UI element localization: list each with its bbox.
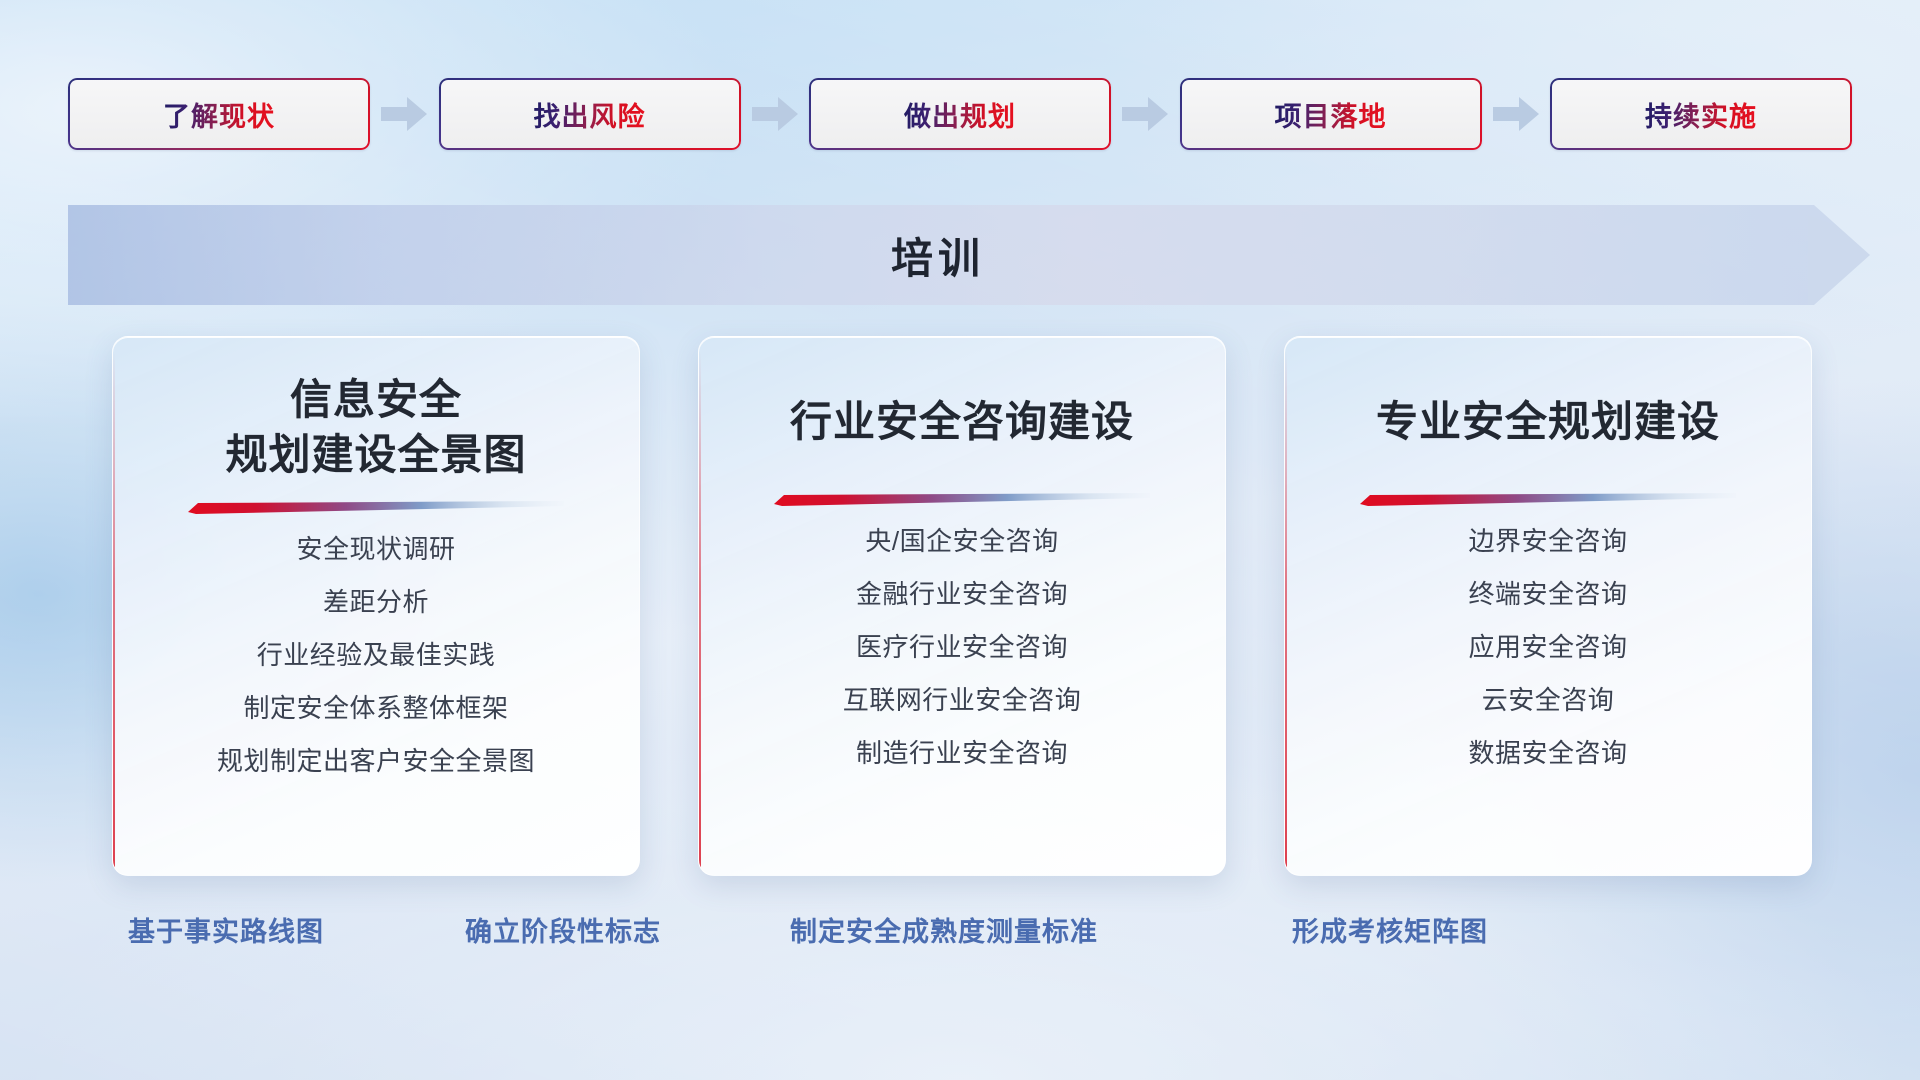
list-item: 云安全咨询 <box>1468 687 1627 713</box>
card-information-security-blueprint[interactable]: 信息安全 规划建设全景图 安全现状调研 差距分析 行 <box>112 336 640 876</box>
step-wrap-1: 了解现状 <box>68 78 370 150</box>
step-wrap-3: 做出规划 <box>809 78 1111 150</box>
arrow-right-icon <box>371 92 437 136</box>
list-item: 央/国企安全咨询 <box>843 528 1082 554</box>
list-item: 规划制定出客户安全全景图 <box>217 748 535 774</box>
step-box-3[interactable]: 做出规划 <box>809 78 1111 150</box>
card-row: 信息安全 规划建设全景图 安全现状调研 差距分析 行 <box>112 336 1812 876</box>
card-title: 信息安全 规划建设全景图 <box>225 373 526 482</box>
card-title: 专业安全规划建设 <box>1376 395 1720 450</box>
step-label-4: 项目落地 <box>1275 95 1387 134</box>
banner-arrow-tip-icon <box>1808 191 1870 319</box>
caption-fact-based-roadmap: 基于事实路线图 <box>128 910 324 949</box>
list-item: 边界安全咨询 <box>1468 528 1627 554</box>
caption-row: 基于事实路线图 确立阶段性标志 制定安全成熟度测量标准 形成考核矩阵图 <box>0 910 1920 960</box>
card-item-list: 央/国企安全咨询 金融行业安全咨询 医疗行业安全咨询 互联网行业安全咨询 制造行… <box>843 528 1082 766</box>
banner-title: 培训 <box>68 205 1808 305</box>
list-item: 差距分析 <box>217 589 535 615</box>
list-item: 金融行业安全咨询 <box>843 581 1082 607</box>
caption-assessment-matrix: 形成考核矩阵图 <box>1292 910 1488 949</box>
arrow-right-icon <box>1112 92 1178 136</box>
step-label-2: 找出风险 <box>534 95 646 134</box>
step-label-1: 了解现状 <box>163 95 275 134</box>
arrow-right-icon <box>1483 92 1549 136</box>
caption-phase-milestones: 确立阶段性标志 <box>465 910 661 949</box>
card-divider <box>1360 492 1736 508</box>
training-banner: 培训 <box>68 205 1868 305</box>
card-divider <box>774 492 1150 508</box>
list-item: 应用安全咨询 <box>1468 634 1627 660</box>
step-box-1[interactable]: 了解现状 <box>68 78 370 150</box>
step-wrap-4: 项目落地 <box>1180 78 1482 150</box>
card-item-list: 安全现状调研 差距分析 行业经验及最佳实践 制定安全体系整体框架 规划制定出客户… <box>217 536 535 774</box>
caption-maturity-measurement: 制定安全成熟度测量标准 <box>790 910 1098 949</box>
step-wrap-5: 持续实施 <box>1550 78 1852 150</box>
card-item-list: 边界安全咨询 终端安全咨询 应用安全咨询 云安全咨询 数据安全咨询 <box>1468 528 1627 766</box>
list-item: 终端安全咨询 <box>1468 581 1627 607</box>
arrow-right-icon <box>742 92 808 136</box>
step-wrap-2: 找出风险 <box>439 78 741 150</box>
card-professional-security-planning[interactable]: 专业安全规划建设 边界安全咨询 终端安全咨询 应用安 <box>1284 336 1812 876</box>
step-box-4[interactable]: 项目落地 <box>1180 78 1482 150</box>
step-box-5[interactable]: 持续实施 <box>1550 78 1852 150</box>
card-divider <box>188 500 564 516</box>
list-item: 医疗行业安全咨询 <box>843 634 1082 660</box>
card-title: 行业安全咨询建设 <box>790 395 1134 450</box>
list-item: 制造行业安全咨询 <box>843 740 1082 766</box>
card-industry-security-consulting[interactable]: 行业安全咨询建设 央/国企安全咨询 金融行业安全咨询 <box>698 336 1226 876</box>
list-item: 制定安全体系整体框架 <box>217 695 535 721</box>
list-item: 安全现状调研 <box>217 536 535 562</box>
step-label-5: 持续实施 <box>1645 95 1757 134</box>
list-item: 互联网行业安全咨询 <box>843 687 1082 713</box>
process-step-row: 了解现状 找出风险 做出规划 项目落地 持续实施 <box>68 78 1852 150</box>
list-item: 数据安全咨询 <box>1468 740 1627 766</box>
list-item: 行业经验及最佳实践 <box>217 642 535 668</box>
step-label-3: 做出规划 <box>904 95 1016 134</box>
step-box-2[interactable]: 找出风险 <box>439 78 741 150</box>
